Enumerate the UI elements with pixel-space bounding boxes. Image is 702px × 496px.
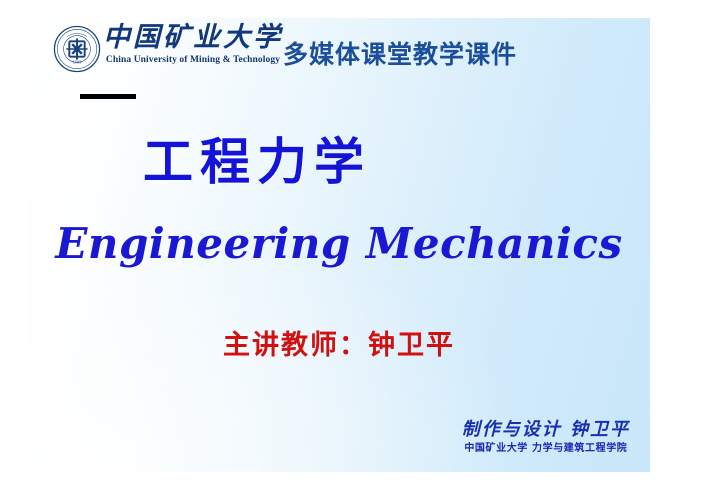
slide-header-band: 1909 中国矿业大学 China University of Mining &… — [28, 18, 650, 92]
credits-block: 制作与设计 钟卫平 中国矿业大学 力学与建筑工程学院 — [462, 418, 630, 456]
page-title-cn: 工程力学 — [143, 134, 371, 190]
logo-underline-rule — [80, 94, 136, 99]
courseware-label: 多媒体课堂教学课件 — [283, 40, 517, 70]
university-name-group: 中国矿业大学 China University of Mining & Tech… — [103, 23, 283, 66]
university-crest-icon: 1909 — [53, 25, 101, 73]
credits-author-line: 制作与设计 钟卫平 — [462, 418, 630, 441]
instructor-line: 主讲教师：钟卫平 — [28, 329, 650, 363]
university-name-cn: 中国矿业大学 — [103, 23, 283, 53]
presentation-slide: 1909 中国矿业大学 China University of Mining &… — [28, 18, 650, 472]
svg-text:1909: 1909 — [73, 59, 82, 64]
credits-affiliation-line: 中国矿业大学 力学与建筑工程学院 — [462, 442, 630, 456]
university-name-en: China University of Mining & Technology — [106, 54, 280, 66]
page-title-en: Engineering Mechanics — [28, 218, 650, 270]
university-logo-block: 1909 中国矿业大学 China University of Mining &… — [53, 23, 283, 73]
